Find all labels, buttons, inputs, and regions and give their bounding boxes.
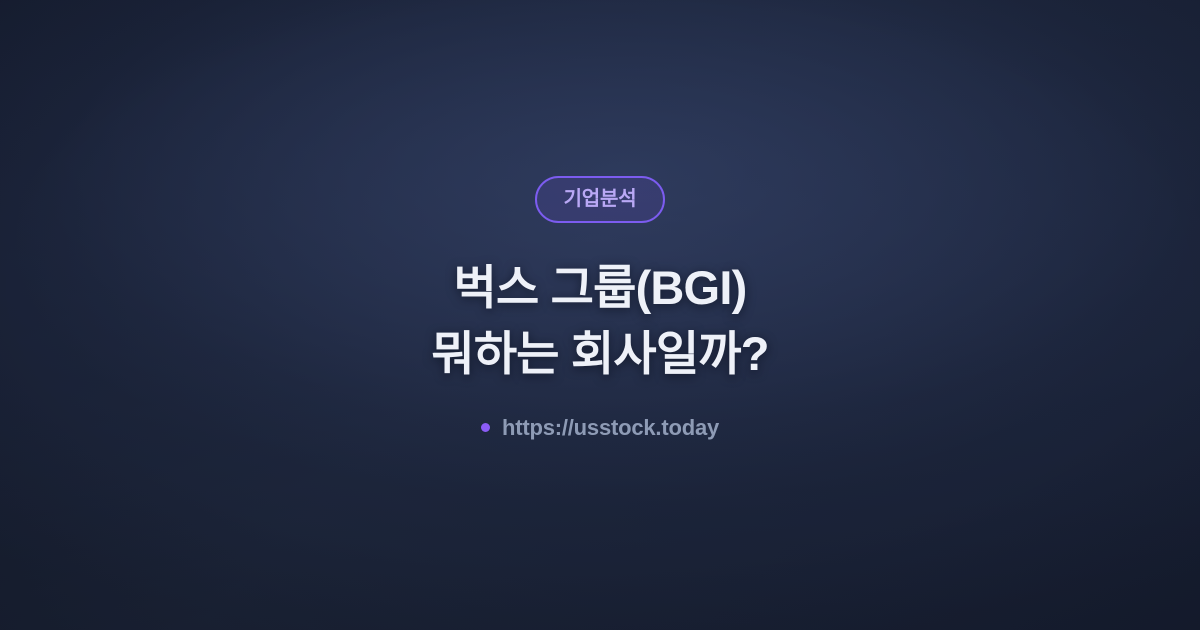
page-title-line-1: 벅스 그룹(BGI) [431, 255, 768, 321]
page-title: 벅스 그룹(BGI) 뭐하는 회사일까? [431, 255, 768, 387]
bullet-dot-icon [481, 423, 490, 432]
card-content: 기업분석 벅스 그룹(BGI) 뭐하는 회사일까? https://usstoc… [0, 0, 1200, 630]
category-badge: 기업분석 [535, 176, 666, 223]
site-url-label: https://usstock.today [502, 417, 719, 439]
site-url-row: https://usstock.today [481, 417, 719, 439]
page-title-line-2: 뭐하는 회사일까? [431, 321, 768, 387]
og-share-card: 기업분석 벅스 그룹(BGI) 뭐하는 회사일까? https://usstoc… [0, 0, 1200, 630]
